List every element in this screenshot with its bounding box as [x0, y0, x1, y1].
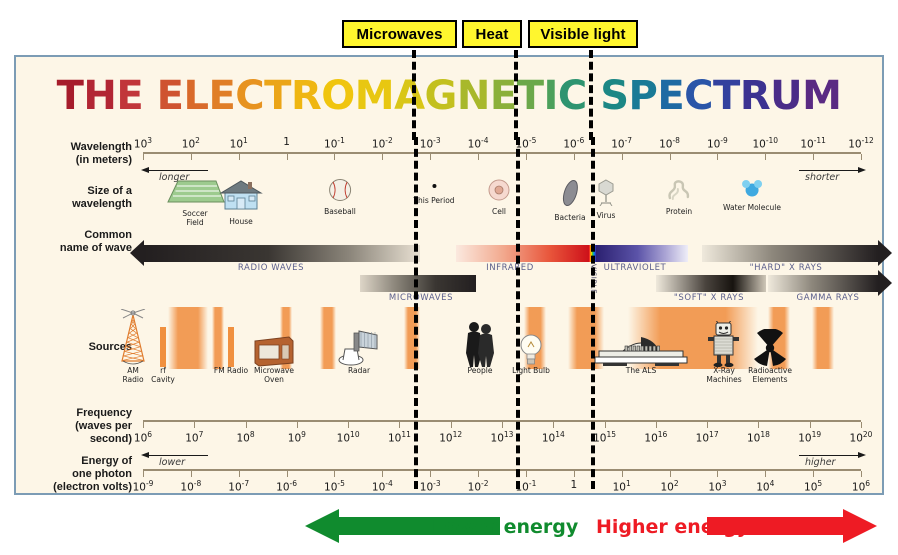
- marker-line-microwaves: [414, 137, 418, 489]
- axis-tick-label-frequency: 1019: [798, 430, 821, 445]
- axis-tick-label-energy: 103: [708, 479, 726, 494]
- axis-tick-label-energy: 10-2: [468, 479, 489, 494]
- direction-arrow-shorter: [799, 170, 859, 171]
- size-item-label: Cell: [487, 208, 511, 217]
- axis-tick: [861, 154, 862, 160]
- size-icon: [413, 178, 454, 196]
- axis-tick: [861, 471, 862, 477]
- row-label-size: Size of awavelength: [22, 185, 132, 211]
- axis-tick-label-frequency: 1011: [388, 430, 411, 445]
- axis-tick-label-frequency: 1020: [850, 430, 873, 445]
- title-letter: S: [600, 73, 628, 119]
- source-item: Radioactive Elements: [715, 309, 825, 384]
- source-icon: [304, 309, 414, 367]
- arrow-head-left: [305, 509, 339, 543]
- marker-line-top-microwaves: [412, 50, 416, 140]
- axis-tick-label-frequency: 1017: [696, 430, 719, 445]
- wave-band: [656, 275, 766, 292]
- marker-line-top-heat: [514, 50, 518, 140]
- axis-tick-label-wavelength: 10-9: [707, 136, 728, 151]
- title-letter: C: [684, 73, 713, 119]
- axis-tick: [526, 471, 527, 477]
- axis-tick-label-wavelength: 101: [230, 136, 248, 151]
- axis-tick: [553, 422, 554, 428]
- axis-tick-label-energy: 10-9: [133, 479, 154, 494]
- direction-label-higher: higher: [805, 457, 835, 468]
- axis-tick-label-wavelength: 1: [283, 136, 290, 148]
- wave-band-label: "HARD" X RAYS: [750, 263, 823, 273]
- size-item: Virus: [596, 178, 616, 221]
- wave-band-label: "SOFT" X RAYS: [674, 293, 744, 303]
- axis-tick-label-wavelength: 10-11: [800, 136, 826, 151]
- size-icon: [554, 178, 585, 213]
- title-letter: M: [802, 73, 841, 119]
- size-item: Baseball: [324, 178, 356, 217]
- axis-tick-label-wavelength: 10-6: [563, 136, 584, 151]
- wave-band-label: MICROWAVES: [389, 293, 453, 303]
- row-label-wavename: Commonname of wave: [22, 229, 132, 255]
- size-icon: [666, 178, 692, 207]
- axis-tick: [622, 154, 623, 160]
- size-item: Soccer Field: [164, 178, 226, 227]
- band-arrow-head: [878, 270, 892, 296]
- title-letter: O: [321, 73, 355, 119]
- axis-tick: [670, 471, 671, 477]
- axis-tick: [670, 154, 671, 160]
- wave-band: [596, 245, 688, 262]
- axis-tick-label-energy: 102: [660, 479, 678, 494]
- title-letter: T: [264, 73, 291, 119]
- axis-tick-label-frequency: 1015: [593, 430, 616, 445]
- axis-tick-label-energy: 104: [756, 479, 774, 494]
- axis-tick-label-frequency: 109: [288, 430, 306, 445]
- axis-tick: [246, 422, 247, 428]
- size-icon: [164, 178, 226, 209]
- title-letter: E: [116, 73, 143, 119]
- axis-tick: [574, 471, 575, 477]
- row-label-wavelength: Wavelength(in meters): [22, 141, 132, 167]
- title-letter: [143, 73, 156, 119]
- wave-band-label: RADIO WAVES: [238, 263, 304, 273]
- wave-band: [768, 275, 878, 292]
- axis-tick: [478, 471, 479, 477]
- axis-tick-label-energy: 10-3: [420, 479, 441, 494]
- axis-tick: [143, 154, 144, 160]
- callout-microwaves: Microwaves: [342, 20, 457, 48]
- axis-tick-label-energy: 105: [804, 479, 822, 494]
- axis-tick-label-energy: 10-5: [324, 479, 345, 494]
- axis-tick: [334, 154, 335, 160]
- size-icon: [324, 178, 356, 207]
- axis-tick: [574, 154, 575, 160]
- wave-band-label: ULTRAVIOLET: [604, 263, 667, 273]
- axis-tick: [707, 422, 708, 428]
- axis-tick: [143, 471, 144, 477]
- title-letter: G: [425, 73, 457, 119]
- axis-tick-label-frequency: 107: [185, 430, 203, 445]
- direction-label-lower: lower: [159, 457, 185, 468]
- marker-line-heat: [516, 137, 520, 489]
- title-letter: R: [740, 73, 770, 119]
- spectrum-poster: THE ELECTROMAGNETIC SPECTRUM Wavelength(…: [14, 55, 884, 495]
- axis-tick-label-energy: 10-6: [276, 479, 297, 494]
- axis-tick: [861, 422, 862, 428]
- size-item: Protein: [666, 178, 692, 217]
- title-letter: E: [157, 73, 184, 119]
- title-letter: T: [713, 73, 740, 119]
- axis-tick: [399, 422, 400, 428]
- axis-tick: [287, 154, 288, 160]
- lower-energy-label: Lower energy: [432, 516, 578, 538]
- axis-tick-label-wavelength: 103: [134, 136, 152, 151]
- axis-tick: [191, 471, 192, 477]
- axis-tick-label-wavelength: 10-4: [468, 136, 489, 151]
- axis-tick: [430, 471, 431, 477]
- size-item-label: Protein: [666, 208, 692, 217]
- band-arrow-head: [878, 240, 892, 266]
- title-letter: C: [235, 73, 264, 119]
- title-letter: E: [490, 73, 517, 119]
- axis-tick: [334, 471, 335, 477]
- axis-tick: [717, 471, 718, 477]
- axis-tick: [287, 471, 288, 477]
- axis-tick-label-wavelength: 10-3: [420, 136, 441, 151]
- title-letter: C: [558, 73, 587, 119]
- size-item-label: Bacteria: [554, 214, 585, 223]
- electromagnetic-spectrum-figure: MicrowavesHeatVisible light THE ELECTROM…: [0, 0, 898, 555]
- axis-tick: [813, 154, 814, 160]
- title-letter: P: [629, 73, 658, 119]
- size-item-label: Water Molecule: [723, 204, 781, 213]
- wave-band: [144, 245, 420, 262]
- source-item: Light Bulb: [476, 309, 586, 376]
- axis-tick-label-wavelength: 10-12: [848, 136, 874, 151]
- axis-tick-label-frequency: 1018: [747, 430, 770, 445]
- arrow-head-right: [843, 509, 877, 543]
- source-item: Radar: [304, 309, 414, 376]
- axis-tick-label-wavelength: 10-7: [611, 136, 632, 151]
- axis-tick: [605, 422, 606, 428]
- source-icon: [476, 309, 586, 367]
- axis-tick: [765, 471, 766, 477]
- marker-line-visible-light: [591, 137, 595, 489]
- size-item: This Period: [413, 178, 454, 206]
- title-letter: T: [517, 73, 544, 119]
- axis-tick-label-energy: 106: [852, 479, 870, 494]
- axis-tick: [382, 471, 383, 477]
- axis-tick: [143, 422, 144, 428]
- axis-tick: [717, 154, 718, 160]
- axis-tick-label-wavelength: 10-8: [659, 136, 680, 151]
- wave-band-label: GAMMA RAYS: [797, 293, 860, 303]
- wave-band: [702, 245, 878, 262]
- source-item-label: Light Bulb: [476, 367, 586, 376]
- axis-tick: [239, 471, 240, 477]
- axis-tick: [813, 471, 814, 477]
- size-item-label: This Period: [413, 197, 454, 206]
- axis-tick: [451, 422, 452, 428]
- title-letter: L: [183, 73, 208, 119]
- title-letter: N: [457, 73, 490, 119]
- wave-band: [456, 245, 591, 262]
- title-letter: I: [544, 73, 558, 119]
- axis-tick: [191, 154, 192, 160]
- size-item: Cell: [487, 178, 511, 217]
- axis-tick-label-frequency: 1010: [337, 430, 360, 445]
- size-icon: [487, 178, 511, 207]
- axis-tick: [765, 154, 766, 160]
- axis-tick: [810, 422, 811, 428]
- size-item-label: Soccer Field: [164, 210, 226, 227]
- title-letter: M: [355, 73, 394, 119]
- title-letter: T: [57, 73, 84, 119]
- axis-tick: [430, 154, 431, 160]
- size-item: Bacteria: [554, 178, 585, 223]
- row-label-frequency: Frequency(waves persecond): [22, 407, 132, 446]
- axis-tick-label-frequency: 1016: [644, 430, 667, 445]
- direction-arrow-longer: [148, 170, 208, 171]
- axis-tick-label-frequency: 108: [236, 430, 254, 445]
- higher-energy-arrow: [707, 509, 877, 543]
- axis-tick-label-wavelength: 102: [182, 136, 200, 151]
- title-letter: R: [291, 73, 321, 119]
- size-item: House: [218, 178, 264, 227]
- size-icon: [723, 178, 781, 203]
- axis-tick-label-wavelength: 10-2: [372, 136, 393, 151]
- axis-tick: [656, 422, 657, 428]
- direction-arrow-lower: [148, 455, 208, 456]
- axis-tick: [526, 154, 527, 160]
- source-item-label: Radioactive Elements: [715, 367, 825, 384]
- axis-line-wavelength: [143, 152, 861, 154]
- size-icon: [596, 178, 616, 211]
- band-arrow-head: [130, 240, 144, 266]
- wave-band: [360, 275, 476, 292]
- title-letter: E: [208, 73, 235, 119]
- axis-tick: [478, 154, 479, 160]
- marker-line-top-visible-light: [589, 50, 593, 140]
- axis-tick-label-wavelength: 10-1: [324, 136, 345, 151]
- axis-tick: [622, 471, 623, 477]
- direction-arrow-higher: [799, 455, 859, 456]
- size-icon: [218, 178, 264, 217]
- source-item-label: Radar: [304, 367, 414, 376]
- axis-tick: [239, 154, 240, 160]
- axis-tick-label-energy: 101: [613, 479, 631, 494]
- axis-line-energy: [143, 469, 861, 471]
- axis-tick: [194, 422, 195, 428]
- axis-tick: [502, 422, 503, 428]
- axis-tick: [297, 422, 298, 428]
- size-item-label: Virus: [596, 212, 616, 221]
- title-letter: E: [657, 73, 684, 119]
- axis-tick-label-frequency: 1014: [542, 430, 565, 445]
- source-icon: [715, 309, 825, 367]
- size-item-label: Baseball: [324, 208, 356, 217]
- arrow-shaft: [707, 517, 843, 535]
- title-letter: H: [83, 73, 116, 119]
- direction-label-shorter: shorter: [805, 172, 839, 183]
- axis-tick-label-energy: 10-4: [372, 479, 393, 494]
- axis-tick-label-energy: 1: [570, 479, 577, 491]
- size-item-label: House: [218, 218, 264, 227]
- axis-tick: [758, 422, 759, 428]
- axis-tick-label-wavelength: 10-10: [752, 136, 778, 151]
- axis-tick-label-frequency: 1013: [491, 430, 514, 445]
- page-title: THE ELECTROMAGNETIC SPECTRUM: [16, 73, 882, 119]
- axis-tick-label-energy: 10-7: [228, 479, 249, 494]
- title-letter: U: [770, 73, 802, 119]
- callout-visible-light: Visible light: [528, 20, 638, 48]
- axis-tick-label-frequency: 106: [134, 430, 152, 445]
- wave-band-label: INFRARED: [486, 263, 534, 273]
- axis-tick-label-energy: 10-8: [180, 479, 201, 494]
- axis-tick: [348, 422, 349, 428]
- callout-heat: Heat: [462, 20, 522, 48]
- size-item: Water Molecule: [723, 178, 781, 213]
- axis-tick-label-frequency: 1012: [439, 430, 462, 445]
- axis-tick: [382, 154, 383, 160]
- title-letter: A: [394, 73, 424, 119]
- row-label-energy: Energy ofone photon(electron volts): [22, 455, 132, 494]
